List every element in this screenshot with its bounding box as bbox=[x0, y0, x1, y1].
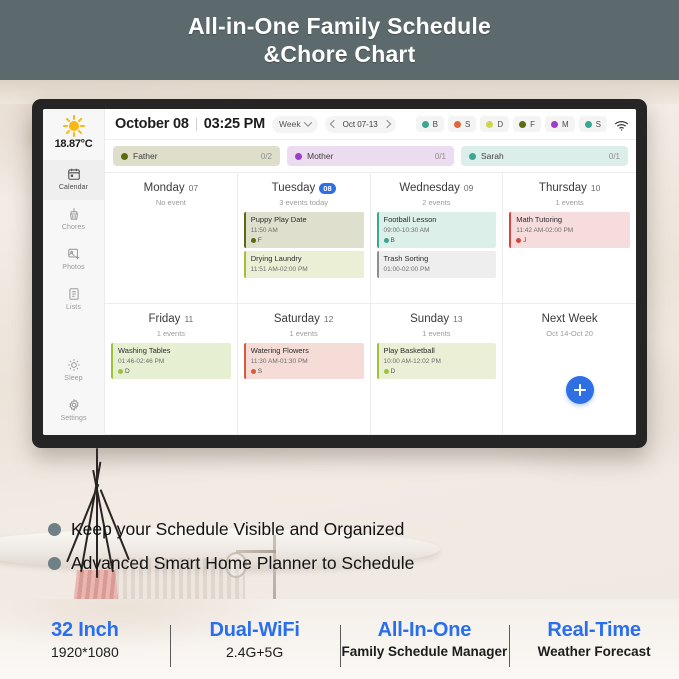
feature-bullet-item: Keep your Schedule Visible and Organized bbox=[48, 512, 608, 546]
event-time: 11:42 AM-02:00 PM bbox=[516, 227, 625, 235]
sidebar-nav-bottom: Sleep Settings bbox=[43, 351, 104, 435]
event-card[interactable]: Watering Flowers 11:30 AM-01:30 PM S bbox=[244, 343, 364, 379]
event-card[interactable]: Math Tutoring 11:42 AM-02:00 PM J bbox=[509, 212, 630, 248]
day-event-list: Washing Tables 01:46-02:46 PM D bbox=[111, 343, 231, 379]
spec-subtitle: 2.4G+5G bbox=[226, 644, 283, 660]
member-color-dot bbox=[486, 121, 493, 128]
event-owner: J bbox=[516, 237, 625, 244]
view-select-label: Week bbox=[279, 119, 301, 129]
day-number: 11 bbox=[184, 314, 193, 324]
member-initial: F bbox=[530, 120, 535, 129]
sun-icon bbox=[63, 115, 85, 137]
feature-bullet-text: Advanced Smart Home Planner to Schedule bbox=[71, 553, 414, 574]
event-card[interactable]: Puppy Play Date 11:50 AM F bbox=[244, 212, 364, 248]
member-initial: S bbox=[596, 120, 601, 129]
day-event-count: No event bbox=[111, 198, 231, 207]
event-card[interactable]: Football Lesson 09:00-10:30 AM B bbox=[377, 212, 497, 248]
event-owner-initial: D bbox=[125, 368, 130, 375]
event-owner: D bbox=[384, 368, 492, 375]
app-sidebar: 18.87°C Calendar bbox=[43, 109, 105, 435]
day-cell-sunday[interactable]: Sunday 13 1 events Play Basketball 10:00… bbox=[371, 304, 504, 435]
bullet-dot-icon bbox=[48, 523, 61, 536]
chevron-down-icon bbox=[303, 118, 311, 126]
spec-title: Real-Time bbox=[547, 619, 640, 642]
add-event-button[interactable] bbox=[566, 376, 594, 404]
chevron-left-icon[interactable] bbox=[329, 120, 337, 128]
member-chip-list: B S D F M bbox=[416, 116, 629, 132]
member-color-dot bbox=[422, 121, 429, 128]
member-initial: S bbox=[465, 120, 470, 129]
day-number: 07 bbox=[189, 183, 198, 193]
event-title: Math Tutoring bbox=[516, 215, 625, 225]
day-title-row: Friday 11 bbox=[111, 313, 231, 325]
next-week-header: Next Week Oct 14-Oct 20 bbox=[509, 309, 630, 338]
event-owner-initial: B bbox=[391, 237, 395, 244]
day-event-list: Watering Flowers 11:30 AM-01:30 PM S bbox=[244, 343, 364, 379]
day-title-row: Monday 07 bbox=[111, 182, 231, 194]
day-number-today-badge: 08 bbox=[319, 183, 335, 194]
event-owner-initial: F bbox=[258, 237, 262, 244]
day-header: Sunday 13 1 events bbox=[377, 309, 497, 338]
day-name: Wednesday bbox=[399, 182, 460, 194]
day-event-count: 1 events bbox=[509, 198, 630, 207]
chore-progress-count: 0/1 bbox=[609, 152, 620, 161]
member-color-dot bbox=[121, 153, 128, 160]
app-main: October 08 03:25 PM Week Oct 07-13 B bbox=[105, 109, 636, 435]
event-title: Washing Tables bbox=[118, 346, 226, 356]
member-initial: M bbox=[562, 120, 569, 129]
sidebar-item-calendar[interactable]: Calendar bbox=[43, 160, 104, 200]
member-color-dot bbox=[251, 369, 256, 374]
sidebar-item-sleep[interactable]: Sleep bbox=[43, 351, 104, 391]
date-range-label: Oct 07-13 bbox=[343, 120, 378, 129]
next-week-title: Next Week bbox=[509, 313, 630, 325]
day-cell-thursday[interactable]: Thursday 10 1 events Math Tutoring 11:42… bbox=[503, 173, 636, 304]
tablet-device: 18.87°C Calendar bbox=[32, 99, 647, 448]
tablet-screen: 18.87°C Calendar bbox=[43, 109, 636, 435]
current-date: October 08 bbox=[115, 116, 189, 132]
day-cell-wednesday[interactable]: Wednesday 09 2 events Football Lesson 09… bbox=[371, 173, 504, 304]
member-color-dot bbox=[516, 238, 521, 243]
event-card[interactable]: Play Basketball 10:00 AM-12:02 PM D bbox=[377, 343, 497, 379]
day-name: Thursday bbox=[539, 182, 587, 194]
temperature-value: 18.87°C bbox=[55, 138, 93, 150]
event-time: 11:50 AM bbox=[251, 227, 359, 235]
member-chip[interactable]: D bbox=[480, 116, 509, 132]
member-color-dot bbox=[384, 238, 389, 243]
sidebar-item-label: Sleep bbox=[64, 375, 82, 382]
spec-subtitle: Family Schedule Manager bbox=[341, 644, 507, 659]
current-time: 03:25 PM bbox=[204, 116, 265, 132]
day-number: 10 bbox=[591, 183, 600, 193]
day-event-list: Math Tutoring 11:42 AM-02:00 PM J bbox=[509, 212, 630, 248]
member-color-dot bbox=[118, 369, 123, 374]
member-color-dot bbox=[295, 153, 302, 160]
event-owner: B bbox=[384, 237, 492, 244]
day-event-list: Football Lesson 09:00-10:30 AM B Trash S… bbox=[377, 212, 497, 278]
chore-member-name: Mother bbox=[307, 151, 430, 161]
sidebar-item-photos[interactable]: Photos bbox=[43, 240, 104, 280]
spec-strip: 32 Inch 1920*1080 Dual-WiFi 2.4G+5G All-… bbox=[0, 599, 679, 679]
event-card[interactable]: Drying Laundry 11:51 AM-02:00 PM bbox=[244, 251, 364, 278]
member-color-dot bbox=[585, 121, 592, 128]
spec-item-allinone: All-In-One Family Schedule Manager bbox=[340, 619, 510, 659]
sidebar-item-label: Chores bbox=[62, 224, 85, 231]
member-color-dot bbox=[469, 153, 476, 160]
event-owner-initial: J bbox=[523, 237, 526, 244]
member-chip[interactable]: F bbox=[513, 116, 541, 132]
day-event-count: 3 events today bbox=[244, 198, 364, 207]
day-number: 13 bbox=[453, 314, 462, 324]
day-cell-tuesday[interactable]: Tuesday 08 3 events today Puppy Play Dat… bbox=[238, 173, 371, 304]
day-header: Thursday 10 1 events bbox=[509, 178, 630, 207]
date-range-nav[interactable]: Oct 07-13 bbox=[325, 116, 396, 133]
sidebar-item-label: Settings bbox=[60, 415, 86, 422]
day-header: Wednesday 09 2 events bbox=[377, 178, 497, 207]
day-event-list: Play Basketball 10:00 AM-12:02 PM D bbox=[377, 343, 497, 379]
member-color-dot bbox=[551, 121, 558, 128]
spec-subtitle: Weather Forecast bbox=[538, 644, 651, 659]
sidebar-item-label: Lists bbox=[66, 304, 81, 311]
day-cell-monday[interactable]: Monday 07 No event bbox=[105, 173, 238, 304]
day-event-list: Puppy Play Date 11:50 AM F Drying Laundr… bbox=[244, 212, 364, 278]
feature-bullet-list: Keep your Schedule Visible and Organized… bbox=[48, 512, 608, 580]
event-title: Drying Laundry bbox=[251, 254, 359, 264]
chore-member-name: Father bbox=[133, 151, 256, 161]
weather-widget[interactable]: 18.87°C bbox=[55, 115, 93, 156]
brightness-icon bbox=[67, 358, 81, 372]
next-week-range: Oct 14-Oct 20 bbox=[509, 329, 630, 338]
member-chip[interactable]: B bbox=[416, 116, 444, 132]
hero-title-line-1: All-in-One Family Schedule bbox=[188, 12, 491, 40]
sidebar-item-settings[interactable]: Settings bbox=[43, 391, 104, 431]
view-select-week[interactable]: Week bbox=[272, 116, 318, 133]
day-header: Tuesday 08 3 events today bbox=[244, 178, 364, 207]
day-event-count: 1 events bbox=[111, 329, 231, 338]
member-chip[interactable]: S bbox=[579, 116, 607, 132]
spec-item-wifi: Dual-WiFi 2.4G+5G bbox=[170, 619, 340, 660]
sidebar-item-chores[interactable]: Chores bbox=[43, 200, 104, 240]
event-title: Watering Flowers bbox=[251, 346, 359, 356]
event-owner: S bbox=[251, 368, 359, 375]
member-color-dot bbox=[384, 369, 389, 374]
spec-item-realtime: Real-Time Weather Forecast bbox=[509, 619, 679, 659]
gear-icon bbox=[67, 398, 81, 412]
spec-title: All-In-One bbox=[378, 619, 472, 642]
spec-title: 32 Inch bbox=[51, 619, 119, 642]
next-week-body bbox=[509, 338, 630, 434]
member-color-dot bbox=[519, 121, 526, 128]
divider bbox=[196, 118, 197, 131]
photo-add-icon bbox=[67, 247, 81, 261]
day-event-count: 1 events bbox=[244, 329, 364, 338]
day-number: 12 bbox=[324, 314, 333, 324]
day-event-count: 1 events bbox=[377, 329, 497, 338]
day-cell-friday[interactable]: Friday 11 1 events Washing Tables 01:46-… bbox=[105, 304, 238, 435]
day-name: Saturday bbox=[274, 313, 320, 325]
day-title-row: Tuesday 08 bbox=[244, 182, 364, 194]
day-name: Monday bbox=[144, 182, 185, 194]
spec-item-size: 32 Inch 1920*1080 bbox=[0, 619, 170, 660]
spec-title: Dual-WiFi bbox=[210, 619, 300, 642]
member-chip[interactable]: M bbox=[545, 116, 575, 132]
day-title-row: Thursday 10 bbox=[509, 182, 630, 194]
day-number: 09 bbox=[464, 183, 473, 193]
member-initial: D bbox=[497, 120, 503, 129]
chore-summary-row: Father 0/2 Mother 0/1 Sarah 0/1 bbox=[105, 140, 636, 172]
feature-bullet-text: Keep your Schedule Visible and Organized bbox=[71, 519, 404, 540]
chore-member-name: Sarah bbox=[481, 151, 604, 161]
member-color-dot bbox=[454, 121, 461, 128]
event-card[interactable]: Trash Sorting 01:00-02:00 PM bbox=[377, 251, 497, 278]
chore-card-sarah[interactable]: Sarah 0/1 bbox=[461, 146, 628, 166]
app-topbar: October 08 03:25 PM Week Oct 07-13 B bbox=[105, 109, 636, 140]
member-chip[interactable]: S bbox=[448, 116, 476, 132]
sidebar-nav: Calendar Chores bbox=[43, 160, 104, 320]
event-title: Play Basketball bbox=[384, 346, 492, 356]
calendar-icon bbox=[67, 167, 81, 181]
chore-progress-count: 0/1 bbox=[435, 152, 446, 161]
event-time: 01:46-02:46 PM bbox=[118, 358, 226, 366]
day-cell-next-week[interactable]: Next Week Oct 14-Oct 20 bbox=[503, 304, 636, 435]
sidebar-item-label: Calendar bbox=[59, 184, 88, 191]
wifi-icon[interactable] bbox=[614, 118, 629, 130]
event-time: 09:00-10:30 AM bbox=[384, 227, 492, 235]
list-icon bbox=[67, 287, 81, 301]
event-card[interactable]: Washing Tables 01:46-02:46 PM D bbox=[111, 343, 231, 379]
member-initial: B bbox=[433, 120, 438, 129]
day-cell-saturday[interactable]: Saturday 12 1 events Watering Flowers 11… bbox=[238, 304, 371, 435]
sidebar-item-lists[interactable]: Lists bbox=[43, 280, 104, 320]
day-name: Friday bbox=[148, 313, 180, 325]
feature-bullet-item: Advanced Smart Home Planner to Schedule bbox=[48, 546, 608, 580]
chore-card-father[interactable]: Father 0/2 bbox=[113, 146, 280, 166]
event-owner: D bbox=[118, 368, 226, 375]
day-name: Tuesday bbox=[272, 182, 316, 194]
bullet-dot-icon bbox=[48, 557, 61, 570]
event-time: 11:30 AM-01:30 PM bbox=[251, 358, 359, 366]
event-owner-initial: D bbox=[391, 368, 396, 375]
calendar-week-grid: Monday 07 No event Tuesday 08 3 ev bbox=[105, 172, 636, 435]
hero-title-line-2: &Chore Chart bbox=[264, 40, 416, 68]
day-title-row: Wednesday 09 bbox=[377, 182, 497, 194]
event-owner: F bbox=[251, 237, 359, 244]
broom-icon bbox=[67, 207, 81, 221]
day-header: Saturday 12 1 events bbox=[244, 309, 364, 338]
event-title: Football Lesson bbox=[384, 215, 492, 225]
event-time: 10:00 AM-12:02 PM bbox=[384, 358, 492, 366]
event-title: Trash Sorting bbox=[384, 254, 492, 264]
member-color-dot bbox=[251, 238, 256, 243]
day-name: Sunday bbox=[410, 313, 449, 325]
hero-banner: All-in-One Family Schedule &Chore Chart bbox=[0, 0, 679, 80]
spec-subtitle: 1920*1080 bbox=[51, 644, 119, 660]
chevron-right-icon[interactable] bbox=[382, 120, 390, 128]
day-header: Friday 11 1 events bbox=[111, 309, 231, 338]
day-title-row: Saturday 12 bbox=[244, 313, 364, 325]
sidebar-item-label: Photos bbox=[62, 264, 84, 271]
day-title-row: Sunday 13 bbox=[377, 313, 497, 325]
event-title: Puppy Play Date bbox=[251, 215, 359, 225]
chore-card-mother[interactable]: Mother 0/1 bbox=[287, 146, 454, 166]
event-owner-initial: S bbox=[258, 368, 262, 375]
event-time: 01:00-02:00 PM bbox=[384, 266, 492, 274]
day-event-count: 2 events bbox=[377, 198, 497, 207]
day-header: Monday 07 No event bbox=[111, 178, 231, 207]
event-time: 11:51 AM-02:00 PM bbox=[251, 266, 359, 274]
chore-progress-count: 0/2 bbox=[261, 152, 272, 161]
